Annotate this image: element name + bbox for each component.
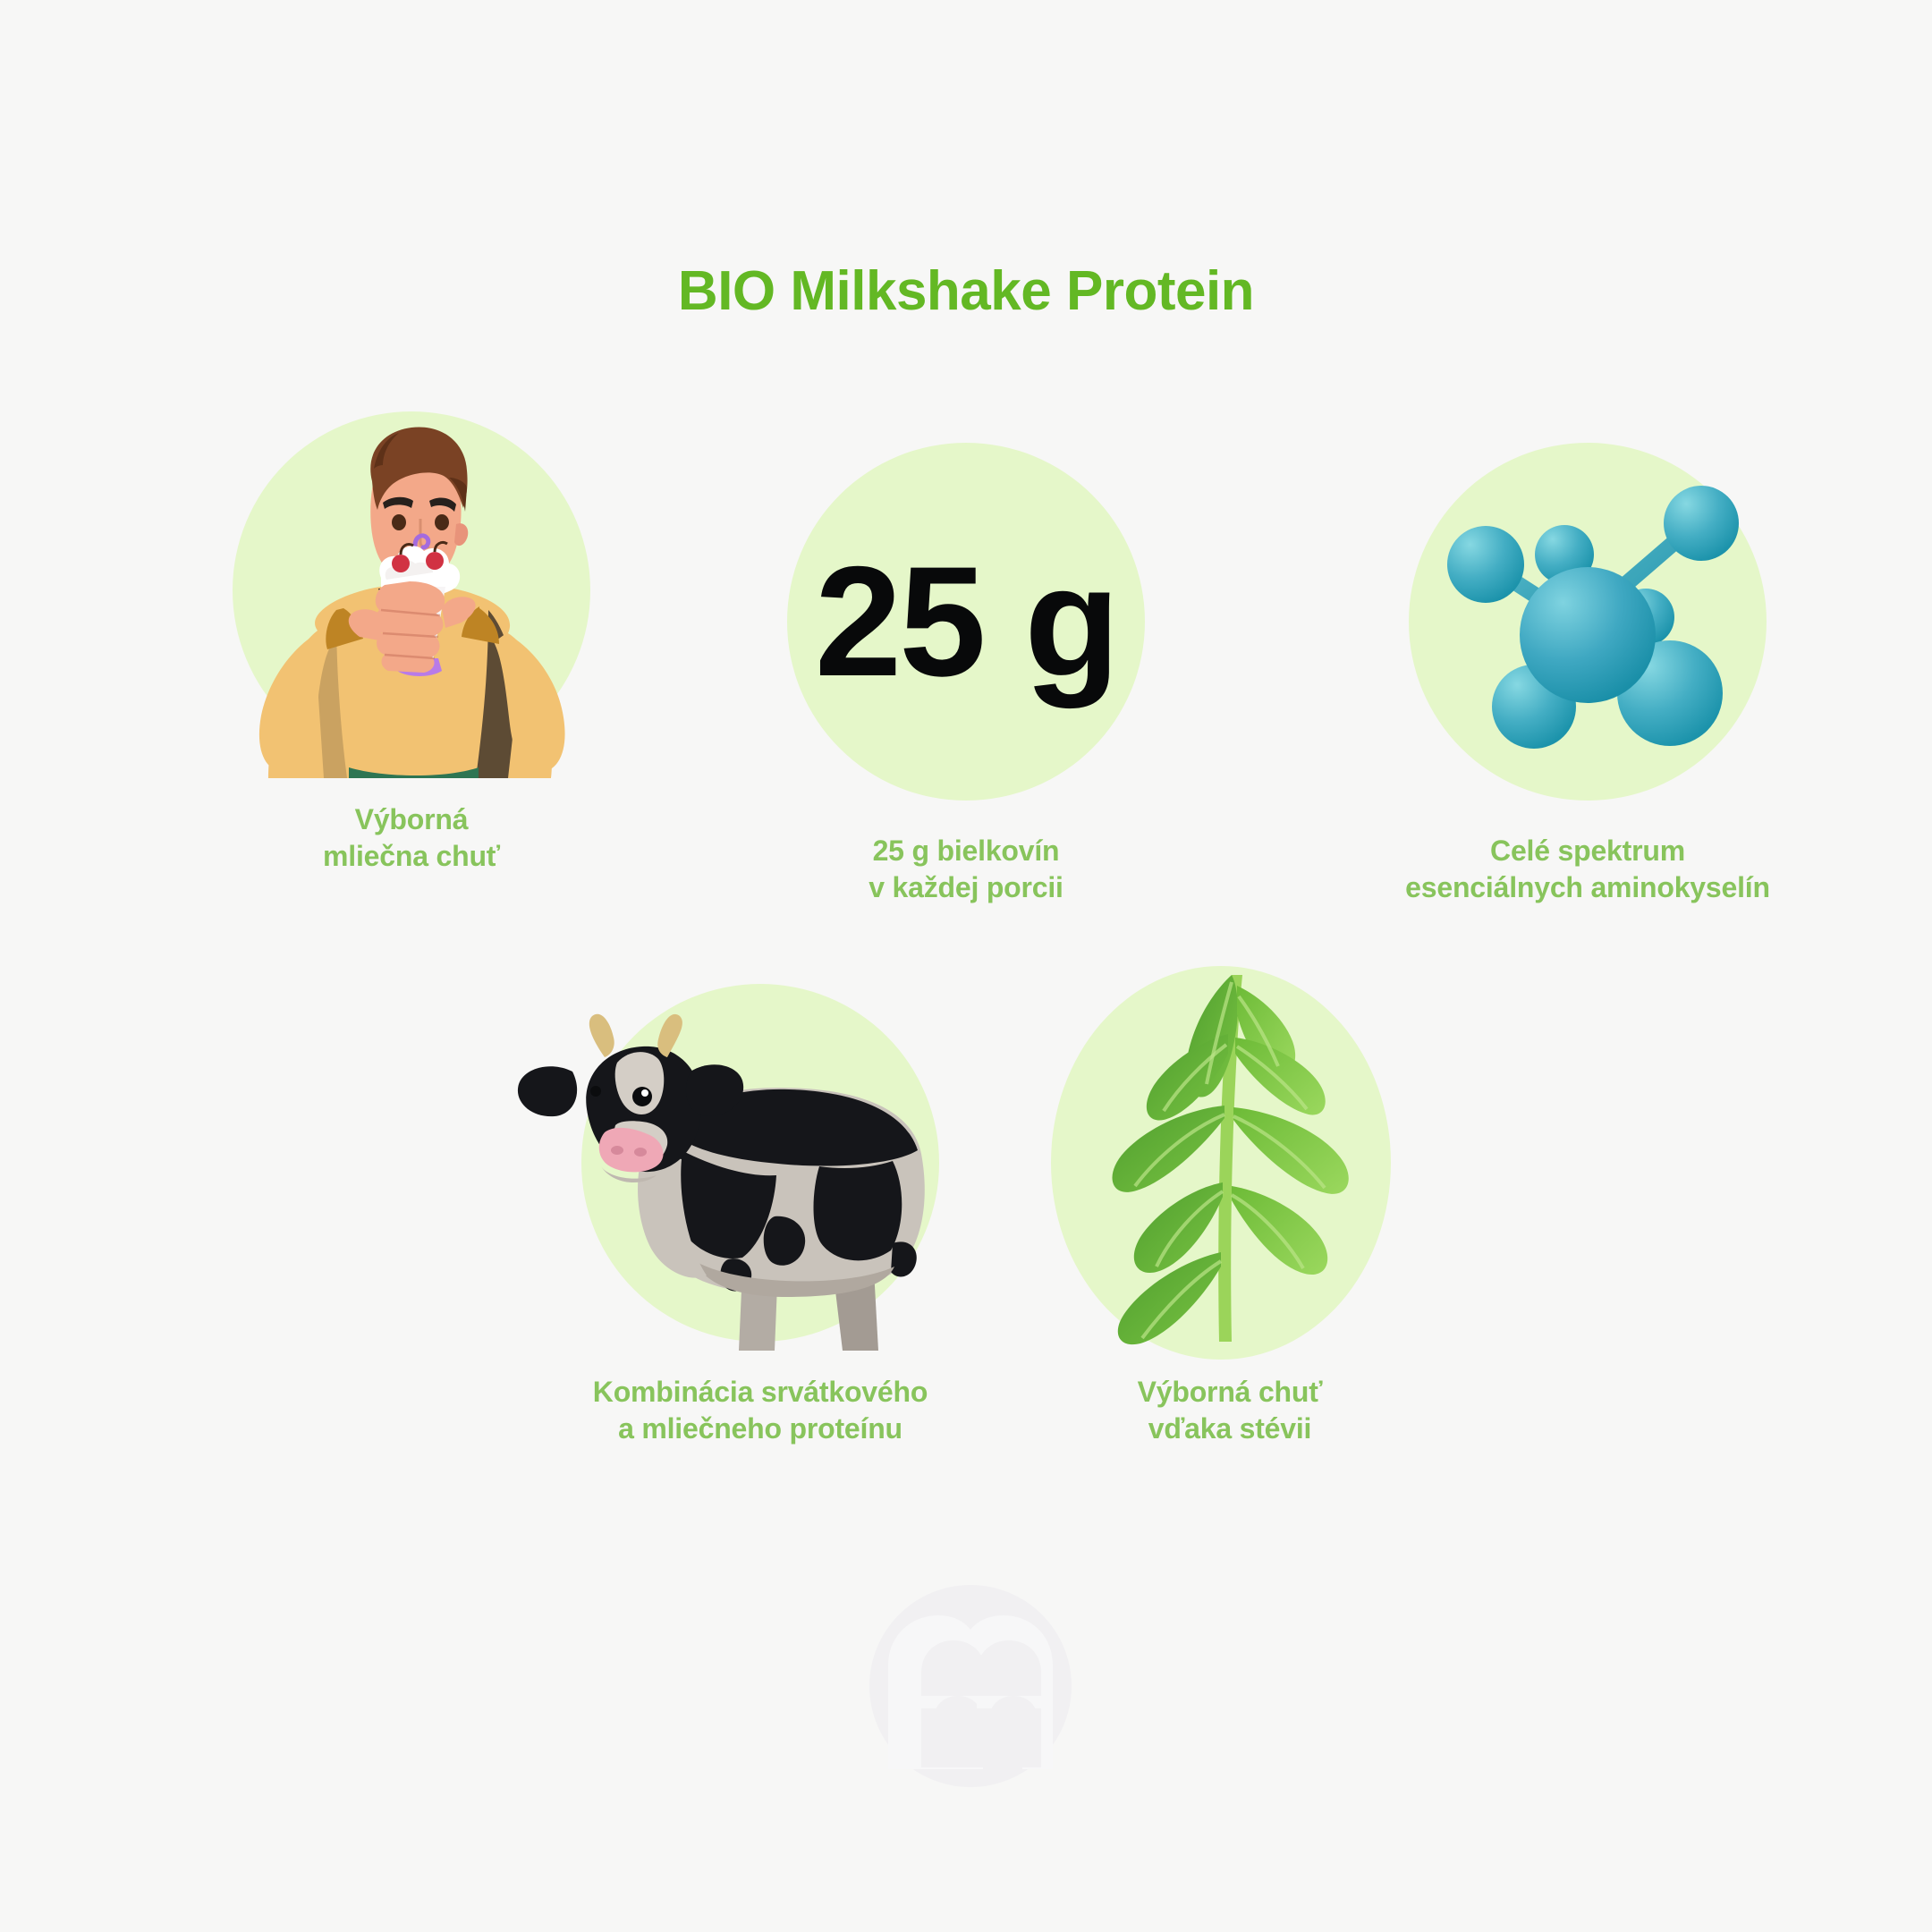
infographic-root: BIO Milkshake Protein [0,0,1932,1932]
protein-amount-badge: 25 g [787,443,1145,801]
feature-art-amino [1266,434,1910,809]
feature-caption-amino: Celé spektrum esenciálnych aminokyselín [1266,833,1910,906]
feature-caption-cow: Kombinácia srvátkového a mliečneho prote… [474,1374,1046,1447]
page-title: BIO Milkshake Protein [0,259,1932,323]
feature-caption-taste: Výborná mliečna chuť [161,801,662,875]
stevia-plant-illustration [979,948,1480,1351]
caption-line-2: v každej porcii [716,869,1216,906]
caption-line-1: Výborná chuť [1138,1376,1323,1408]
feature-art-stevia [979,948,1480,1351]
feature-card-taste: Výborná mliečna chuť [161,402,662,875]
caption-line-2: a mliečneho proteínu [474,1411,1046,1447]
caption-line-2: mliečna chuť [161,838,662,875]
caption-line-1: 25 g bielkovín [873,835,1060,867]
caption-line-2: vďaka stévii [979,1411,1480,1447]
feature-card-amino: Celé spektrum esenciálnych aminokyselín [1266,434,1910,906]
dairy-cow-illustration [474,975,1046,1351]
feature-art-cow [474,975,1046,1351]
feature-card-protein: 25 g 25 g bielkovín v každej porcii [716,434,1216,906]
caption-line-1: Celé spektrum [1490,835,1685,867]
feature-art-protein: 25 g [716,434,1216,809]
caption-line-1: Kombinácia srvátkového [593,1376,928,1408]
feature-art-taste [161,402,662,778]
feature-card-stevia: Výborná chuť vďaka stévii [979,948,1480,1447]
feature-caption-protein: 25 g bielkovín v každej porcii [716,833,1216,906]
feature-card-cow: Kombinácia srvátkového a mliečneho prote… [474,975,1046,1447]
caption-line-1: Výborná [355,803,469,835]
man-drinking-milkshake-illustration [161,402,662,778]
brand-m-logo-watermark [868,1583,1073,1789]
feature-caption-stevia: Výborná chuť vďaka stévii [979,1374,1480,1447]
molecule-illustration [1266,434,1910,809]
caption-line-2: esenciálnych aminokyselín [1266,869,1910,906]
